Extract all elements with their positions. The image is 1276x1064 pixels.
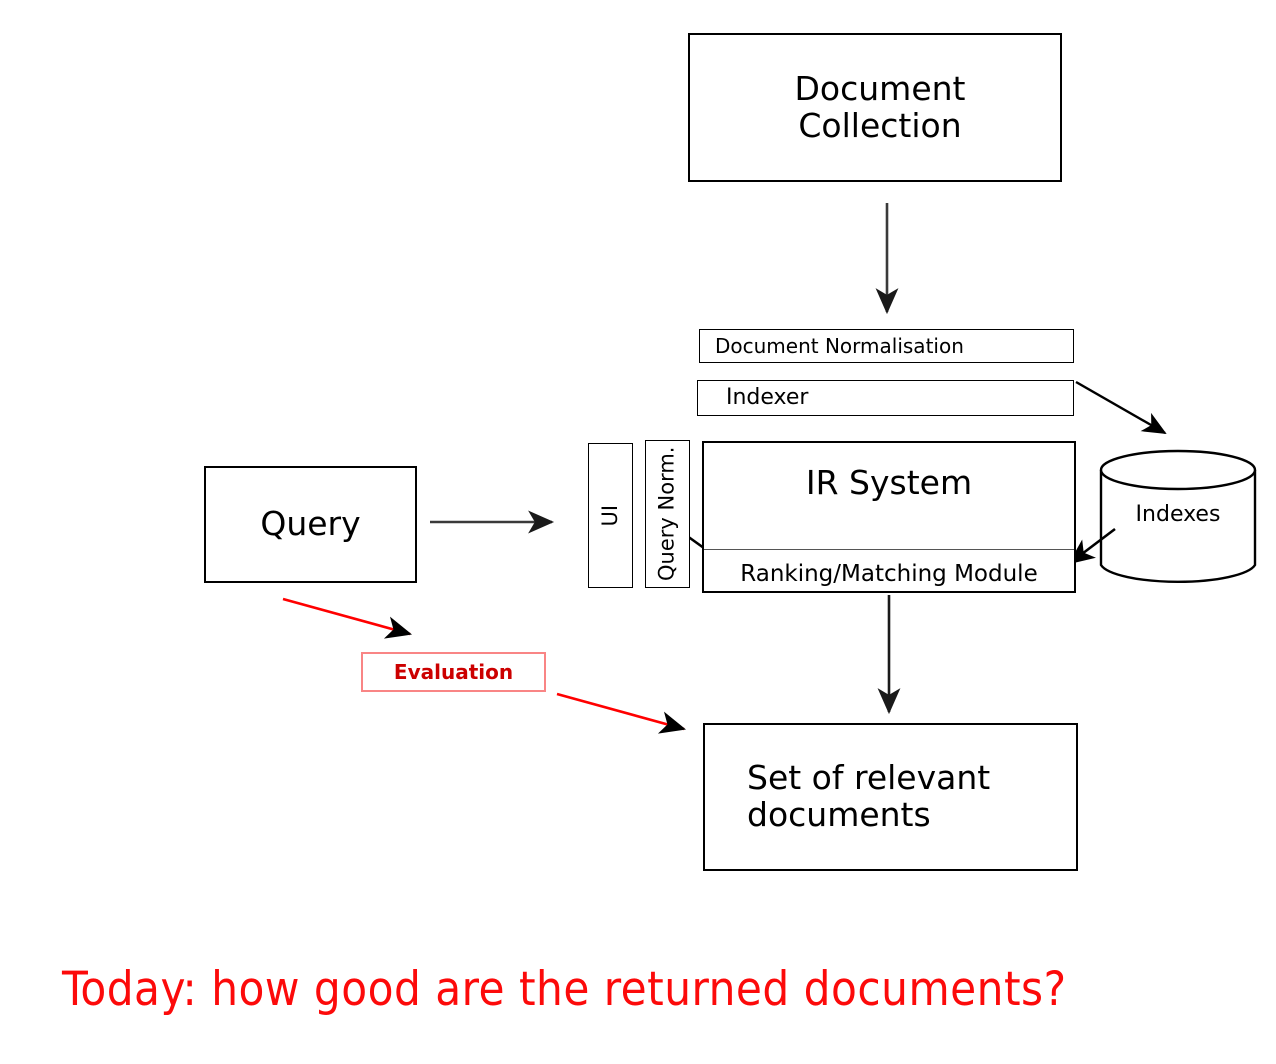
result-text: Set of relevant documents	[747, 760, 990, 834]
arrow-query-to-evaluation	[283, 599, 410, 634]
node-query-normalisation[interactable]: Query Norm.	[645, 440, 690, 588]
slide-canvas: Document Collection Document Normalisati…	[0, 0, 1276, 1064]
indexer-label: Indexer	[726, 386, 808, 411]
arrow-indexer-to-indexes	[1076, 382, 1165, 433]
result-line1: Set of relevant	[747, 760, 990, 797]
node-ir-system[interactable]: IR System Ranking/Matching Module	[702, 441, 1076, 593]
result-line2: documents	[747, 797, 990, 834]
document-collection-line2: Collection	[700, 108, 1060, 145]
node-ui[interactable]: UI	[588, 443, 633, 588]
node-document-normalisation[interactable]: Document Normalisation	[699, 329, 1074, 363]
node-indexer[interactable]: Indexer	[697, 380, 1074, 416]
ui-label: UI	[599, 505, 623, 527]
document-collection-text: Document Collection	[690, 71, 1060, 145]
indexes-label: Indexes	[1100, 502, 1256, 527]
arrow-evaluation-to-results	[557, 694, 684, 729]
slide-caption: Today: how good are the returned documen…	[62, 962, 1182, 1017]
ir-system-label: IR System	[704, 465, 1074, 502]
node-evaluation[interactable]: Evaluation	[361, 652, 546, 692]
ir-system-divider	[704, 549, 1074, 550]
evaluation-label: Evaluation	[394, 661, 513, 683]
arrow-indexes-to-ranking	[1070, 529, 1115, 563]
query-label: Query	[260, 506, 360, 543]
document-normalisation-label: Document Normalisation	[715, 335, 964, 357]
query-normalisation-label: Query Norm.	[656, 447, 680, 581]
node-set-of-relevant-documents[interactable]: Set of relevant documents	[703, 723, 1078, 871]
document-collection-line1: Document	[700, 71, 1060, 108]
node-document-collection[interactable]: Document Collection	[688, 33, 1062, 182]
ranking-matching-module-label: Ranking/Matching Module	[704, 562, 1074, 588]
node-query[interactable]: Query	[204, 466, 417, 583]
diagram-connectors	[0, 0, 1276, 1064]
